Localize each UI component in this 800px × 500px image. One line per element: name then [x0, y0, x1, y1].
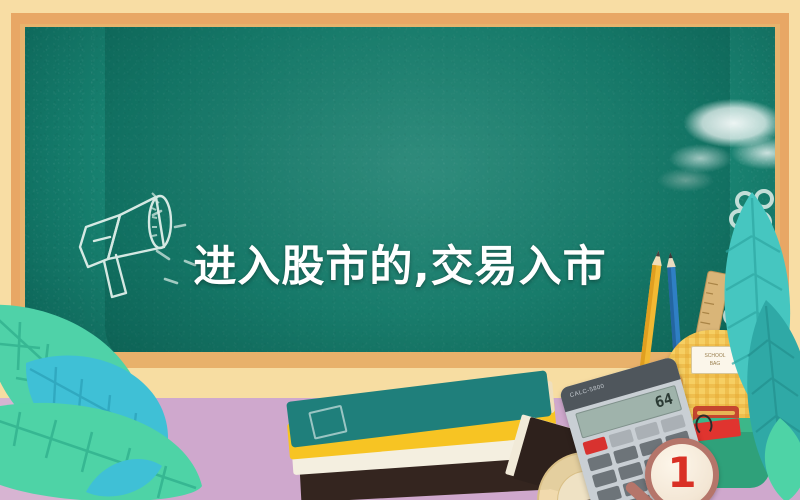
- calculator-display-value: 64: [653, 389, 675, 411]
- eraser-smudge-icon: [645, 72, 775, 207]
- magnifying-glass-icon: 1: [645, 438, 719, 500]
- magnified-number: 1: [651, 452, 713, 494]
- leaf-right-bottom-icon: [756, 418, 800, 500]
- book-label: [308, 405, 347, 440]
- leaf-small-blue-icon: [84, 452, 164, 500]
- magnifier-lens: 1: [645, 438, 719, 500]
- banner-canvas: 进入股市的,交易入市: [0, 0, 800, 500]
